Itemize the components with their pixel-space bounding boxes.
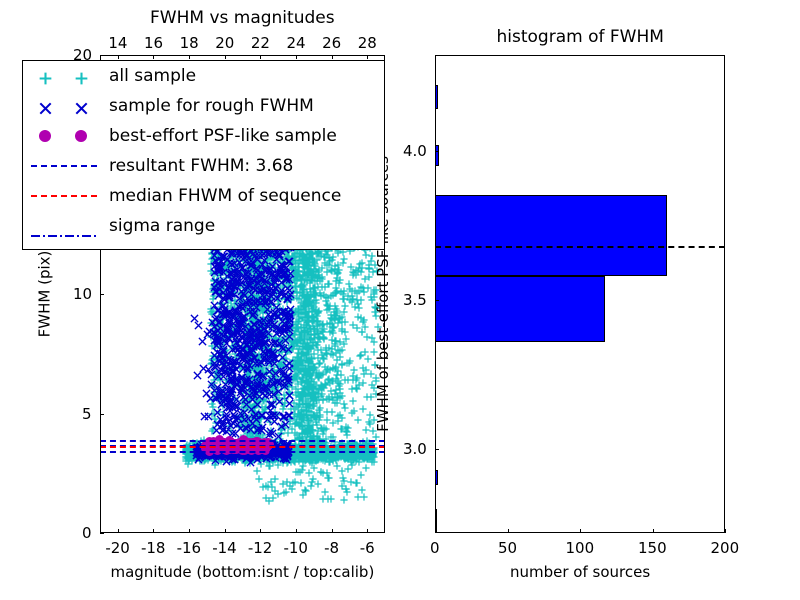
data-point — [349, 264, 357, 272]
data-point — [265, 271, 273, 279]
data-point — [351, 432, 359, 440]
data-point — [253, 327, 261, 335]
data-point — [262, 298, 270, 306]
data-point — [259, 311, 267, 319]
data-point — [281, 366, 289, 374]
data-point — [275, 342, 283, 350]
data-point — [255, 333, 264, 342]
data-point — [245, 323, 253, 331]
data-point — [314, 276, 322, 284]
data-point — [307, 337, 315, 345]
data-point — [308, 419, 316, 427]
data-point — [260, 288, 268, 296]
data-point — [220, 274, 229, 283]
data-point — [304, 311, 312, 319]
data-point — [245, 362, 253, 370]
data-point — [273, 288, 282, 297]
data-point — [334, 262, 342, 270]
data-point — [247, 284, 256, 293]
data-point — [207, 353, 215, 361]
data-point — [249, 338, 257, 346]
data-point — [286, 383, 294, 391]
data-point — [246, 389, 254, 397]
data-point — [319, 488, 327, 496]
data-point — [217, 394, 226, 403]
data-point — [249, 278, 258, 287]
data-point — [329, 344, 337, 352]
data-point — [240, 306, 249, 315]
data-point — [291, 357, 299, 365]
data-point — [230, 276, 239, 285]
data-point — [273, 306, 282, 315]
data-point — [290, 392, 298, 400]
data-point — [325, 388, 333, 396]
data-point — [231, 329, 240, 338]
data-point — [239, 307, 248, 316]
data-point — [215, 387, 224, 396]
data-point — [246, 325, 255, 334]
data-point — [304, 412, 312, 420]
data-point — [254, 277, 262, 285]
data-point — [229, 354, 237, 362]
data-point — [328, 370, 336, 378]
data-point — [254, 418, 263, 427]
data-point — [270, 343, 279, 352]
data-point — [257, 263, 266, 272]
data-point — [226, 390, 235, 399]
data-point — [318, 383, 326, 391]
data-point — [255, 356, 263, 364]
data-point — [333, 392, 341, 400]
data-point — [219, 395, 227, 403]
data-point — [296, 386, 304, 394]
data-point — [265, 260, 273, 268]
data-point — [228, 355, 237, 364]
data-point — [299, 484, 307, 492]
data-point — [255, 322, 264, 331]
data-point — [253, 420, 262, 429]
data-point — [238, 380, 247, 389]
data-point — [305, 366, 313, 374]
data-point — [265, 343, 273, 351]
data-point — [253, 373, 262, 382]
data-point — [266, 255, 274, 263]
data-point — [302, 385, 310, 393]
data-point — [285, 326, 294, 335]
data-point — [298, 390, 306, 398]
data-point — [305, 462, 313, 470]
data-point — [322, 428, 330, 436]
data-point — [212, 388, 221, 397]
data-point — [328, 260, 336, 268]
data-point — [279, 407, 288, 416]
data-point — [353, 317, 361, 325]
data-point — [239, 382, 247, 390]
data-point — [217, 348, 226, 357]
data-point — [214, 276, 222, 284]
data-point — [245, 279, 253, 287]
data-point — [253, 289, 261, 297]
data-point — [366, 404, 374, 412]
data-point — [242, 354, 250, 362]
data-point — [216, 329, 224, 337]
data-point — [267, 316, 275, 324]
data-point — [227, 358, 236, 367]
data-point — [313, 428, 321, 436]
data-point — [247, 376, 256, 385]
data-point — [232, 303, 240, 311]
data-point — [237, 308, 245, 316]
data-point — [248, 328, 256, 336]
data-point — [316, 352, 324, 360]
data-point — [253, 304, 261, 312]
data-point — [297, 411, 305, 419]
data-point — [216, 260, 224, 268]
data-point — [287, 289, 295, 297]
data-point — [228, 271, 236, 279]
data-point — [323, 261, 331, 269]
data-point — [324, 488, 332, 496]
data-point — [304, 263, 312, 271]
data-point — [249, 368, 257, 376]
data-point — [243, 328, 251, 336]
data-point — [305, 365, 313, 373]
data-point — [217, 292, 225, 300]
data-point — [305, 410, 313, 418]
data-point — [226, 266, 234, 274]
data-point — [279, 320, 288, 329]
data-point — [247, 334, 256, 343]
data-point — [319, 326, 327, 334]
data-point — [278, 351, 286, 359]
data-point — [207, 301, 215, 309]
data-point — [209, 288, 217, 296]
data-point — [251, 429, 259, 437]
data-point — [348, 454, 356, 462]
data-point — [251, 266, 259, 274]
data-point — [253, 422, 261, 430]
data-point — [286, 410, 294, 418]
data-point — [242, 251, 250, 259]
data-point — [242, 357, 250, 365]
data-point — [309, 307, 317, 315]
data-point — [322, 342, 330, 350]
data-point — [242, 418, 251, 427]
data-point — [305, 324, 313, 332]
data-point — [341, 369, 349, 377]
data-point — [303, 347, 311, 355]
data-point — [268, 405, 277, 414]
data-point — [244, 429, 252, 437]
data-point — [312, 407, 320, 415]
data-point — [333, 263, 341, 271]
data-point — [250, 310, 258, 318]
data-point — [304, 334, 312, 342]
data-point — [273, 372, 282, 381]
data-point — [286, 369, 294, 377]
data-point — [305, 379, 313, 387]
data-point — [265, 490, 273, 498]
data-point — [358, 257, 366, 265]
data-point — [256, 378, 264, 386]
data-point — [287, 288, 295, 296]
data-point — [294, 311, 302, 319]
data-point — [220, 273, 228, 281]
data-point — [262, 281, 271, 290]
data-point — [286, 271, 294, 279]
data-point — [252, 427, 260, 435]
data-point — [258, 396, 266, 404]
data-point — [248, 269, 256, 277]
data-point — [315, 428, 323, 436]
data-point — [310, 373, 318, 381]
data-point — [322, 374, 330, 382]
data-point — [214, 363, 222, 371]
data-point — [313, 310, 321, 318]
data-point — [306, 286, 314, 294]
data-point — [323, 294, 331, 302]
data-point — [244, 368, 252, 376]
data-point — [249, 316, 257, 324]
data-point — [322, 361, 330, 369]
data-point — [328, 320, 336, 328]
data-point — [280, 313, 289, 322]
data-point — [275, 330, 283, 338]
data-point — [271, 332, 280, 341]
data-point — [307, 269, 315, 277]
data-point — [241, 314, 249, 322]
data-point — [265, 347, 274, 356]
data-point — [340, 489, 348, 497]
data-point — [216, 434, 225, 443]
data-point — [305, 355, 313, 363]
data-point — [217, 389, 225, 397]
data-point — [262, 372, 270, 380]
data-point — [220, 330, 228, 338]
data-point — [311, 387, 319, 395]
data-point — [259, 401, 267, 409]
data-point — [243, 298, 251, 306]
data-point — [291, 350, 299, 358]
data-point — [293, 368, 301, 376]
data-point — [285, 305, 294, 314]
data-point — [283, 452, 291, 460]
data-point — [266, 308, 275, 317]
data-point — [233, 261, 241, 269]
data-point — [240, 310, 248, 318]
data-point — [217, 386, 225, 394]
data-point — [294, 403, 302, 411]
data-point — [305, 415, 313, 423]
data-point — [253, 378, 262, 387]
data-point — [338, 475, 346, 483]
data-point — [267, 471, 275, 479]
data-point — [246, 422, 254, 430]
data-point — [226, 368, 235, 377]
data-point — [266, 411, 274, 419]
data-point — [308, 368, 316, 376]
data-point — [304, 423, 312, 431]
data-point — [240, 396, 248, 404]
data-point — [324, 273, 332, 281]
data-point — [317, 385, 325, 393]
data-point — [210, 295, 219, 304]
data-point — [279, 398, 287, 406]
data-point — [260, 270, 269, 279]
data-point — [246, 321, 254, 329]
data-point — [299, 354, 307, 362]
data-point — [301, 421, 309, 429]
data-point — [279, 338, 288, 347]
data-point — [237, 409, 245, 417]
data-point — [240, 321, 248, 329]
data-point — [263, 409, 272, 418]
data-point — [326, 372, 334, 380]
data-point — [222, 262, 230, 270]
data-point — [303, 262, 311, 270]
data-point — [269, 344, 278, 353]
data-point — [215, 259, 224, 268]
data-point — [303, 261, 311, 269]
data-point — [259, 318, 267, 326]
data-point — [246, 327, 254, 335]
data-point — [247, 257, 255, 265]
data-point — [243, 305, 251, 313]
data-point — [261, 259, 270, 268]
data-point — [282, 306, 291, 315]
data-point — [327, 343, 335, 351]
data-point — [295, 347, 303, 355]
data-point — [266, 455, 274, 463]
data-point — [312, 260, 320, 268]
data-point — [338, 354, 346, 362]
data-point — [284, 286, 293, 295]
data-point — [283, 375, 291, 383]
data-point — [266, 394, 275, 403]
data-point — [271, 431, 279, 439]
data-point — [288, 330, 296, 338]
data-point — [348, 402, 356, 410]
data-point — [222, 303, 231, 312]
data-point — [359, 357, 367, 365]
data-point — [306, 363, 314, 371]
data-point — [248, 252, 257, 261]
data-point — [274, 251, 282, 259]
data-point — [302, 480, 310, 488]
data-point — [298, 276, 306, 284]
data-point — [268, 373, 277, 382]
data-point — [291, 263, 299, 271]
data-point — [247, 281, 255, 289]
data-point — [231, 293, 239, 301]
data-point — [217, 379, 225, 387]
data-point — [247, 388, 255, 396]
data-point — [301, 382, 309, 390]
data-point — [281, 417, 289, 425]
data-point — [259, 357, 267, 365]
data-point — [293, 366, 301, 374]
data-point — [256, 252, 264, 260]
data-point — [353, 367, 361, 375]
data-point — [255, 414, 263, 422]
data-point — [285, 280, 294, 289]
data-point — [250, 286, 258, 294]
data-point — [261, 266, 269, 274]
data-point — [251, 292, 260, 301]
data-point — [297, 299, 305, 307]
data-point — [265, 361, 274, 370]
data-point — [359, 277, 367, 285]
data-point — [250, 325, 259, 334]
data-point — [302, 344, 310, 352]
data-point — [251, 394, 259, 402]
data-point — [328, 316, 336, 324]
data-point — [252, 297, 261, 306]
data-point — [252, 295, 260, 303]
data-point — [215, 305, 223, 313]
data-point — [219, 404, 227, 412]
data-point — [249, 335, 257, 343]
data-point — [329, 284, 337, 292]
data-point — [257, 311, 265, 319]
data-point — [299, 418, 307, 426]
data-point — [276, 331, 284, 339]
data-point — [253, 336, 261, 344]
data-point — [284, 249, 292, 257]
data-point — [277, 419, 285, 427]
data-point — [327, 304, 335, 312]
data-point — [333, 455, 341, 463]
data-point — [289, 369, 297, 377]
data-point — [282, 341, 290, 349]
data-point — [307, 401, 315, 409]
data-point — [249, 332, 257, 340]
data-point — [307, 347, 315, 355]
data-point — [245, 369, 254, 378]
data-point — [301, 336, 309, 344]
data-point — [279, 318, 287, 326]
data-point — [219, 354, 227, 362]
data-point — [309, 404, 317, 412]
data-point — [300, 295, 308, 303]
data-point — [301, 333, 309, 341]
data-point — [252, 347, 260, 355]
data-point — [210, 262, 219, 271]
data-point — [251, 430, 259, 438]
data-point — [222, 305, 231, 314]
data-point — [284, 369, 293, 378]
data-point — [303, 314, 311, 322]
data-point — [308, 376, 316, 384]
data-point — [309, 267, 317, 275]
data-point — [243, 341, 251, 349]
data-point — [247, 295, 255, 303]
data-point — [307, 421, 315, 429]
data-point — [261, 279, 269, 287]
data-point — [249, 291, 258, 300]
data-point — [279, 298, 287, 306]
data-point — [247, 284, 255, 292]
data-point — [290, 304, 298, 312]
data-point — [255, 331, 264, 340]
data-point — [334, 370, 342, 378]
data-point — [277, 416, 286, 425]
data-point — [246, 326, 254, 334]
data-point — [297, 406, 305, 414]
data-point — [242, 277, 250, 285]
data-point — [331, 333, 339, 341]
data-point — [207, 326, 215, 334]
